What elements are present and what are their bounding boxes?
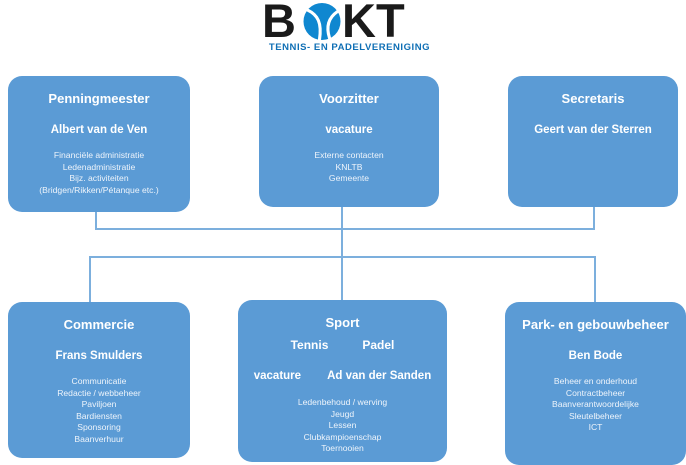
detail-line: Beheer en onderhoud: [511, 376, 680, 388]
node-title: Penningmeester: [14, 90, 184, 107]
detail-line: Jeugd: [244, 409, 441, 421]
connector-top-bus: [95, 228, 595, 230]
detail-line: Paviljoen: [14, 399, 184, 411]
connector-commercie-down: [89, 256, 91, 302]
node-title: Sport: [244, 314, 441, 331]
svg-text:B: B: [262, 1, 296, 43]
detail-line: Bijz. activiteiten: [14, 173, 184, 185]
detail-line: Clubkampioenschap: [244, 432, 441, 444]
sport-person-row: vacature Ad van der Sanden: [244, 369, 441, 384]
sport-discipline-row: Tennis Padel: [244, 337, 441, 353]
connector-penningmeester-down: [95, 212, 97, 229]
svg-text:KT: KT: [342, 1, 405, 43]
node-person: Albert van de Ven: [14, 123, 184, 138]
sport-discipline-padel: Padel: [362, 337, 394, 353]
node-details: Communicatie Redactie / webbeheer Pavilj…: [14, 376, 184, 446]
sport-discipline-tennis: Tennis: [291, 337, 329, 353]
connector-bottom-bus: [89, 256, 596, 258]
node-details: Externe contacten KNLTB Gemeente: [265, 150, 433, 185]
detail-line: Baanverantwoordelijke: [511, 399, 680, 411]
node-penningmeester[interactable]: Penningmeester Albert van de Ven Financi…: [8, 76, 190, 212]
connector-voorzitter-down: [341, 207, 343, 229]
detail-line: Sleutelbeheer: [511, 411, 680, 423]
detail-line: Externe contacten: [265, 150, 433, 162]
sport-person-padel: Ad van der Sanden: [327, 369, 431, 384]
detail-line: Bardiensten: [14, 411, 184, 423]
node-person: Geert van der Sterren: [514, 123, 672, 138]
node-secretaris[interactable]: Secretaris Geert van der Sterren: [508, 76, 678, 207]
node-title: Voorzitter: [265, 90, 433, 107]
detail-line: Redactie / webbeheer: [14, 388, 184, 400]
detail-line: Toernooien: [244, 443, 441, 455]
detail-line: Ledenadministratie: [14, 162, 184, 174]
detail-line: Lessen: [244, 420, 441, 432]
detail-line: Ledenbehoud / werving: [244, 397, 441, 409]
detail-line: Baanverhuur: [14, 434, 184, 446]
node-person: Frans Smulders: [14, 349, 184, 364]
node-commercie[interactable]: Commercie Frans Smulders Communicatie Re…: [8, 302, 190, 458]
detail-line: Gemeente: [265, 173, 433, 185]
node-voorzitter[interactable]: Voorzitter vacature Externe contacten KN…: [259, 76, 439, 207]
detail-line: (Bridgen/Rikken/Pétanque etc.): [14, 185, 184, 197]
node-details: Financiële administratie Ledenadministra…: [14, 150, 184, 196]
detail-line: Communicatie: [14, 376, 184, 388]
node-person: Ben Bode: [511, 349, 680, 364]
detail-line: Contractbeheer: [511, 388, 680, 400]
logo-tagline: TENNIS- EN PADELVERENIGING: [262, 42, 437, 53]
node-title: Park- en gebouwbeheer: [511, 316, 680, 333]
node-details: Ledenbehoud / werving Jeugd Lessen Clubk…: [244, 397, 441, 455]
bokt-wordmark-icon: B KT: [262, 1, 432, 43]
detail-line: Sponsoring: [14, 422, 184, 434]
bokt-logo: B KT TENNIS- EN PADELVERENIGING: [0, 0, 686, 62]
node-sport[interactable]: Sport Tennis Padel vacature Ad van der S…: [238, 300, 447, 462]
node-person: vacature: [265, 123, 433, 138]
tennis-ball-icon: [304, 3, 341, 40]
connector-secretaris-down: [593, 207, 595, 229]
node-park-en-gebouwbeheer[interactable]: Park- en gebouwbeheer Ben Bode Beheer en…: [505, 302, 686, 465]
node-details: Beheer en onderhoud Contractbeheer Baanv…: [511, 376, 680, 434]
detail-line: KNLTB: [265, 162, 433, 174]
detail-line: ICT: [511, 422, 680, 434]
node-title: Secretaris: [514, 90, 672, 107]
connector-trunk: [341, 228, 343, 302]
org-chart-canvas: B KT TENNIS- EN PADELVERENIGING Penningm…: [0, 0, 686, 465]
connector-park-down: [594, 256, 596, 302]
sport-person-tennis: vacature: [254, 369, 301, 384]
node-title: Commercie: [14, 316, 184, 333]
detail-line: Financiële administratie: [14, 150, 184, 162]
